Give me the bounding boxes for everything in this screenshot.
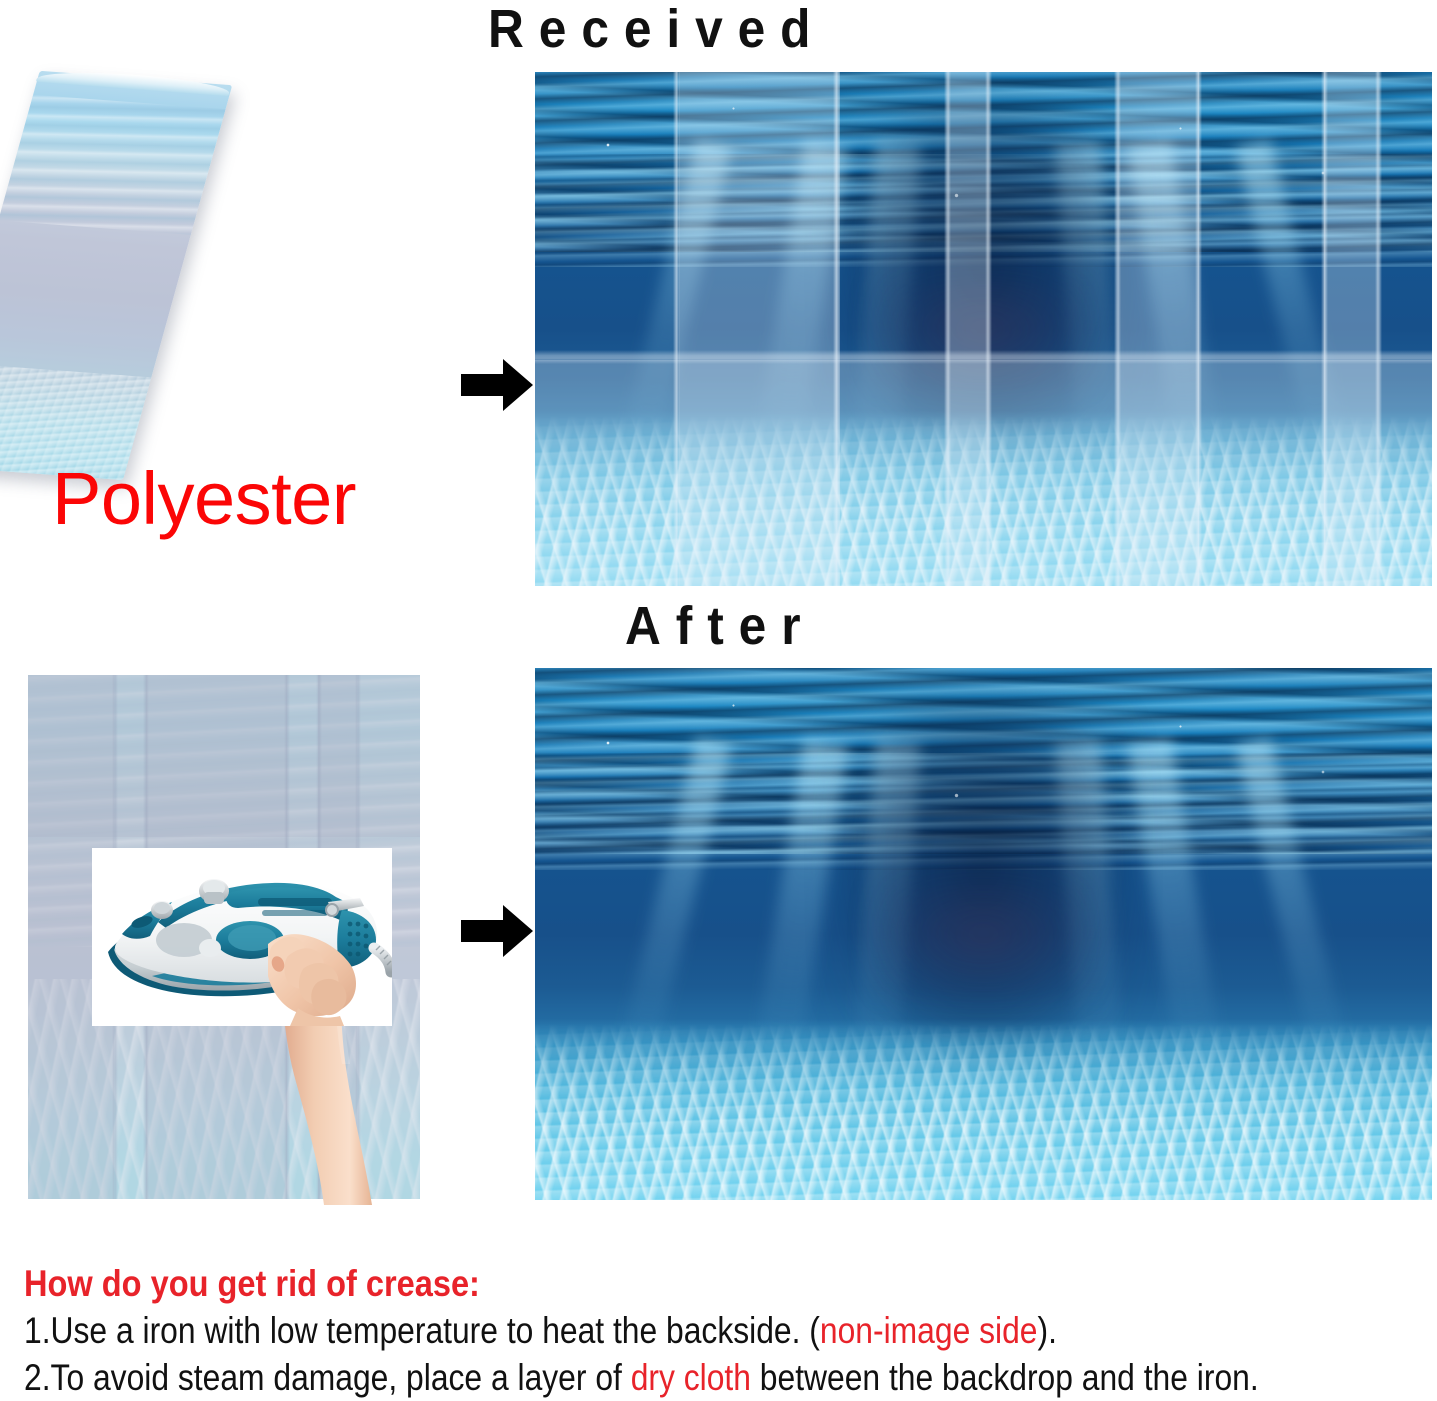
- instruction-line-1-suffix: ).: [1037, 1310, 1056, 1351]
- crease-band-upper: [28, 675, 420, 837]
- instruction-line-2-prefix: 2.To avoid steam damage, place a layer o…: [24, 1357, 631, 1398]
- instruction-line-2-suffix: between the backdrop and the iron.: [751, 1357, 1259, 1398]
- instruction-line-2: 2.To avoid steam damage, place a layer o…: [24, 1357, 1228, 1400]
- instruction-line-1: 1.Use a iron with low temperature to hea…: [24, 1310, 1228, 1353]
- after-header: After: [625, 599, 815, 653]
- right-arrow-icon: [459, 356, 535, 414]
- right-arrow-icon: [459, 902, 535, 960]
- caustics-layer: [535, 1024, 1432, 1200]
- after-backdrop-image: [535, 668, 1432, 1200]
- caustics-layer: [535, 416, 1432, 586]
- instruction-line-2-highlight: dry cloth: [631, 1357, 751, 1398]
- folded-fabric-roll: [16, 78, 316, 478]
- instruction-line-1-highlight: non-image side: [820, 1310, 1038, 1351]
- bubbles-layer: [535, 679, 1432, 892]
- fabric-roll-body: [0, 71, 232, 480]
- instruction-line-1-prefix: 1.Use a iron with low temperature to hea…: [24, 1310, 820, 1351]
- iron-photo-card: [92, 848, 392, 1026]
- received-backdrop-image: [535, 72, 1432, 586]
- instructions-title: How do you get rid of crease:: [24, 1262, 1256, 1306]
- care-instructions: How do you get rid of crease: 1.Use a ir…: [24, 1262, 1424, 1399]
- bubbles-layer: [535, 82, 1432, 288]
- received-header: Received: [488, 2, 825, 56]
- infographic-stage: Received After Polyester: [0, 0, 1437, 1401]
- polyester-material-label: Polyester: [52, 462, 356, 536]
